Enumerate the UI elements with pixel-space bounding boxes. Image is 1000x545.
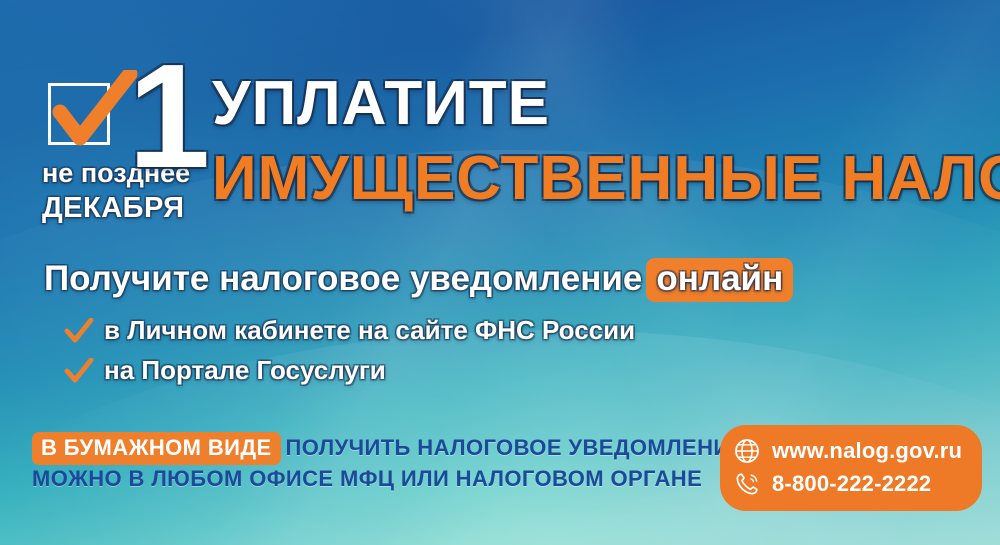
online-heading: Получите налоговое уведомлениеонлайн <box>44 258 793 302</box>
list-item-label: в Личном кабинете на сайте ФНС России <box>104 315 635 346</box>
contact-website-label: www.nalog.gov.ru <box>772 438 962 464</box>
deadline-block: 1 не позднее ДЕКАБРЯ <box>42 58 222 225</box>
globe-icon <box>734 438 760 464</box>
paper-notice-line-1: В БУМАЖНОМ ВИДЕПОЛУЧИТЬ НАЛОГОВОЕ УВЕДОМ… <box>32 432 745 465</box>
checkmark-icon <box>50 70 138 152</box>
contact-badge: www.nalog.gov.ru 8-800-222-2222 <box>720 425 982 511</box>
list-item-label: на Портале Госуслуги <box>104 355 386 386</box>
deadline-checkbox-row: 1 <box>42 58 222 154</box>
headline-line-1: УПЛАТИТЕ <box>212 68 550 139</box>
contact-phone-row[interactable]: 8-800-222-2222 <box>734 467 968 500</box>
paper-notice-line-1-rest: ПОЛУЧИТЬ НАЛОГОВОЕ УВЕДОМЛЕНИЕ <box>286 435 745 460</box>
list-item: на Портале Госуслуги <box>64 352 635 389</box>
online-channels-list: в Личном кабинете на сайте ФНС России на… <box>64 312 635 392</box>
paper-notice-line-2: МОЖНО В ЛЮБОМ ОФИСЕ МФЦ ИЛИ НАЛОГОВОМ ОР… <box>32 465 745 493</box>
contact-website-row[interactable]: www.nalog.gov.ru <box>734 434 968 467</box>
phone-icon <box>734 471 760 497</box>
list-item: в Личном кабинете на сайте ФНС России <box>64 312 635 349</box>
paper-notice-highlight: В БУМАЖНОМ ВИДЕ <box>32 432 281 465</box>
online-heading-highlight: онлайн <box>646 258 793 302</box>
checkmark-icon <box>64 358 94 384</box>
tax-notice-banner: 1 не позднее ДЕКАБРЯ УПЛАТИТЕ ИМУЩЕСТВЕН… <box>0 0 1000 545</box>
deadline-number: 1 <box>128 43 208 191</box>
paper-notice-block: В БУМАЖНОМ ВИДЕПОЛУЧИТЬ НАЛОГОВОЕ УВЕДОМ… <box>32 432 745 493</box>
checkmark-icon <box>64 318 94 344</box>
online-heading-prefix: Получите налоговое уведомление <box>44 259 642 298</box>
headline-line-2: ИМУЩЕСТВЕННЫЕ НАЛОГИ <box>212 143 1000 214</box>
contact-phone-label: 8-800-222-2222 <box>772 471 931 497</box>
